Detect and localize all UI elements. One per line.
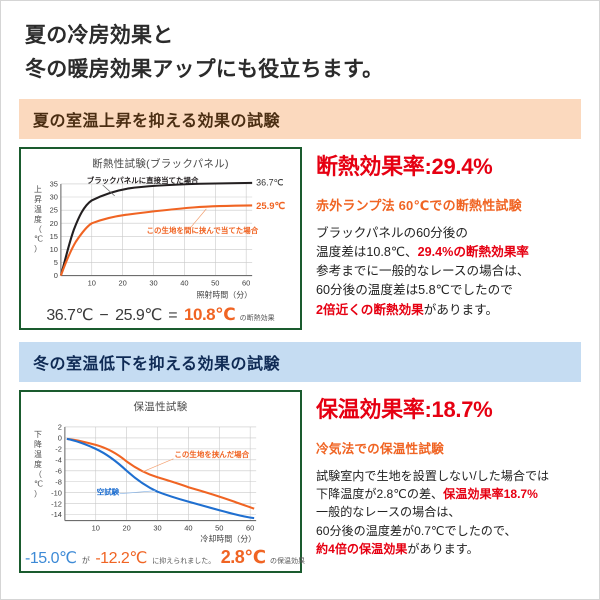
warmth-method: 冷気法での保温性試験	[316, 438, 581, 457]
desc-text: ブラックパネルの60分後の	[316, 226, 468, 240]
svg-text:25: 25	[50, 206, 58, 215]
section-bar-winter: 冬の室温低下を抑える効果の試験	[19, 342, 581, 382]
summer-text-pane: 断熱効果率:29.4% 赤外ランプ法 60℃での断熱性試験 ブラックパネルの60…	[302, 147, 581, 320]
headline-line-1: 夏の冷房効果と	[25, 19, 599, 53]
formula-op2: =	[166, 307, 179, 324]
svg-text:下: 下	[34, 429, 42, 438]
svg-text:5: 5	[54, 258, 58, 267]
formula-op2: に抑えられました。	[151, 558, 216, 565]
curve-with-fabric	[61, 206, 252, 276]
desc-highlight: 保温効果率18.7%	[443, 487, 538, 501]
insulation-rate: 断熱効果率:29.4%	[316, 149, 581, 181]
svg-text:度: 度	[34, 214, 42, 224]
svg-text:降: 降	[34, 438, 42, 448]
svg-text:50: 50	[215, 523, 223, 532]
svg-text:-12: -12	[51, 499, 62, 508]
formula-b: 25.9℃	[115, 307, 162, 324]
chart-insulation-box: 断熱性試験(ブラックパネル) 上 昇 温 度 （ ℃ ）	[19, 147, 302, 330]
svg-text:20: 20	[50, 219, 58, 228]
chart-warmth-svg: 下 降 温 度 （ ℃ ）	[25, 415, 296, 547]
desc-highlight: 29.4%の断熱効果率	[418, 245, 529, 259]
svg-text:-4: -4	[55, 455, 62, 464]
formula-op1: −	[97, 307, 110, 324]
curve-black-end-label: 36.7℃	[256, 177, 283, 187]
svg-text:温: 温	[34, 449, 42, 458]
formula-op1: が	[81, 556, 91, 565]
svg-text:冷却時間（分）: 冷却時間（分）	[200, 533, 256, 543]
svg-text:60: 60	[246, 523, 254, 532]
svg-text:（: （	[34, 469, 42, 478]
desc-text: 試験室内で生地を設置しない/した場合では	[316, 469, 549, 483]
desc-highlight: 約4倍の保温効果	[316, 542, 407, 556]
svg-text:）: ）	[34, 489, 42, 498]
svg-text:℃: ℃	[34, 235, 43, 244]
annotation-blank-test: 空試験	[97, 486, 120, 496]
chart-warmth-box: 保温性試験 下 降 温 度 （ ℃ ）	[19, 390, 302, 574]
section-bar-summer: 夏の室温上昇を抑える効果の試験	[19, 99, 581, 139]
svg-text:-10: -10	[51, 488, 62, 497]
svg-text:-8: -8	[55, 477, 62, 486]
svg-text:度: 度	[34, 458, 42, 468]
chart-insulation-svg: 上 昇 温 度 （ ℃ ）	[25, 172, 296, 304]
svg-text:昇: 昇	[34, 195, 42, 204]
svg-text:35: 35	[50, 180, 58, 189]
section-summer: 断熱性試験(ブラックパネル) 上 昇 温 度 （ ℃ ）	[19, 147, 581, 330]
svg-text:40: 40	[184, 523, 192, 532]
section-winter: 保温性試験 下 降 温 度 （ ℃ ）	[19, 390, 581, 574]
desc-text: 温度差は10.8℃、	[316, 245, 418, 259]
desc-text: 60分後の温度差は5.8℃でしたので	[316, 283, 513, 297]
svg-text:10: 10	[50, 245, 58, 254]
svg-text:60: 60	[242, 279, 250, 288]
desc-highlight: 2倍近くの断熱効果	[316, 303, 424, 317]
svg-text:照射時間（分）: 照射時間（分）	[196, 290, 252, 300]
svg-text:-6: -6	[55, 466, 62, 475]
svg-text:10: 10	[88, 279, 96, 288]
annotation-fabric: この生地を間に挟んで当てた場合	[147, 225, 259, 235]
page-headline: 夏の冷房効果と 冬の暖房効果アップにも役立ちます。	[1, 1, 599, 87]
svg-text:30: 30	[153, 523, 161, 532]
svg-text:0: 0	[54, 271, 58, 280]
curve-orange-end-label: 25.9℃	[256, 201, 285, 212]
svg-text:-14: -14	[51, 510, 62, 519]
desc-text: があります。	[407, 542, 478, 556]
formula-warmth: -15.0℃ が -12.2℃ に抑えられました。 2.8℃ の保温効果	[25, 547, 296, 568]
svg-text:2: 2	[58, 422, 62, 431]
desc-text: 一般的なレースの場合は、	[316, 505, 461, 519]
svg-text:上: 上	[34, 185, 42, 194]
formula-b: -12.2℃	[95, 550, 146, 567]
formula-a: -15.0℃	[25, 550, 76, 567]
annotation-fabric-warmth: この生地を挟んだ場合	[174, 448, 249, 458]
insulation-method: 赤外ランプ法 60℃での断熱性試験	[316, 195, 581, 214]
chart-insulation-title: 断熱性試験(ブラックパネル)	[25, 156, 296, 171]
formula-a: 36.7℃	[46, 307, 93, 324]
svg-text:（: （	[34, 225, 42, 234]
warmth-rate: 保温効果率:18.7%	[316, 392, 581, 424]
chart-warmth-title: 保温性試験	[25, 399, 296, 414]
svg-text:-2: -2	[55, 444, 62, 453]
svg-text:30: 30	[149, 279, 157, 288]
headline-line-2: 冬の暖房効果アップにも役立ちます。	[25, 53, 599, 87]
insulation-description: ブラックパネルの60分後の 温度差は10.8℃、29.4%の断熱効果率 参考まで…	[316, 224, 581, 320]
svg-text:10: 10	[92, 523, 100, 532]
formula-result: 10.8℃	[184, 305, 235, 324]
svg-text:50: 50	[211, 279, 219, 288]
infographic-page: 夏の冷房効果と 冬の暖房効果アップにも役立ちます。 夏の室温上昇を抑える効果の試…	[0, 0, 600, 600]
warmth-description: 試験室内で生地を設置しない/した場合では 下降温度が2.8℃の差、保温効果率18…	[316, 467, 581, 559]
svg-text:℃: ℃	[34, 479, 43, 488]
svg-text:15: 15	[50, 232, 58, 241]
formula-result: 2.8℃	[221, 547, 266, 567]
formula-suffix: の断熱効果	[240, 315, 275, 322]
formula-insulation: 36.7℃ − 25.9℃ = 10.8℃ の断熱効果	[25, 305, 296, 325]
desc-text: 60分後の温度差が0.7℃でしたので、	[316, 524, 517, 538]
svg-text:20: 20	[118, 279, 126, 288]
desc-text: 下降温度が2.8℃の差、	[316, 487, 443, 501]
svg-text:20: 20	[122, 523, 130, 532]
winter-text-pane: 保温効果率:18.7% 冷気法での保温性試験 試験室内で生地を設置しない/した場…	[302, 390, 581, 559]
svg-text:）: ）	[34, 245, 42, 254]
svg-text:40: 40	[180, 279, 188, 288]
formula-suffix: の保温効果	[270, 558, 305, 565]
svg-text:0: 0	[58, 433, 62, 442]
svg-text:温: 温	[34, 205, 42, 214]
svg-text:30: 30	[50, 193, 58, 202]
desc-text: があります。	[424, 303, 498, 317]
desc-text: 参考までに一般的なレースの場合は、	[316, 264, 529, 278]
annotation-direct: ブラックパネルに直接当てた場合	[87, 175, 199, 185]
